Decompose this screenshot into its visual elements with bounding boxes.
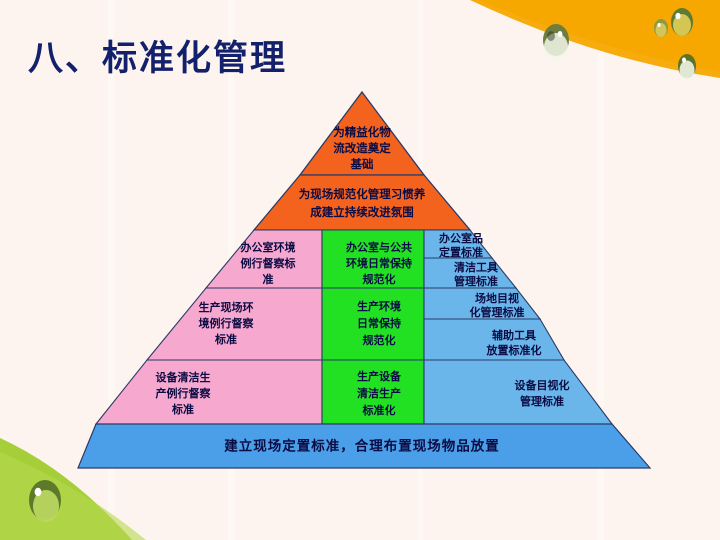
- row1-right1-line-1: 办公室品: [439, 231, 483, 245]
- row3-right-cell-1[interactable]: [424, 360, 612, 424]
- row2-center-line-1: 生产环境: [357, 299, 401, 313]
- apex-line-3: 基础: [350, 157, 374, 171]
- apex-line-1: 为精益化物: [333, 125, 391, 139]
- row1-left-line-3: 准: [263, 272, 274, 286]
- row2-center-line-3: 规范化: [363, 333, 396, 347]
- row3-right1-line-1: 设备目视化: [515, 378, 570, 392]
- row2-right1-line-2: 化管理标准: [470, 305, 525, 319]
- row2-left-line-2: 境例行督察: [199, 316, 255, 330]
- row2-right1-line-1: 场地目视: [475, 291, 519, 305]
- row1-right2-line-2: 管理标准: [454, 274, 498, 288]
- row1-left-line-2: 例行督察标: [241, 256, 296, 270]
- page-title: 八、标准化管理: [28, 30, 287, 81]
- row3-left-line-1: 设备清洁生: [156, 370, 211, 384]
- row3-left-line-2: 产例行督察: [156, 386, 212, 400]
- row1-center-line-2: 环境日常保持: [346, 256, 412, 270]
- row1-right2-line-1: 清洁工具: [454, 260, 498, 274]
- row2-right2-line-1: 辅助工具: [492, 328, 536, 342]
- row1-center-line-1: 办公室与公共: [346, 240, 412, 254]
- row3-center-line-2: 清洁生产: [357, 386, 401, 400]
- row2-left-line-3: 标准: [214, 332, 237, 346]
- row2-center-line-2: 日常保持: [357, 316, 401, 330]
- standardization-pyramid-diagram: 为精益化物 流改造奠定 基础 为现场规范化管理习惯养 成建立持续改进氛围 办公室…: [0, 0, 720, 540]
- row2-right2-line-2: 放置标准化: [486, 343, 542, 357]
- tier2-line-1: 为现场规范化管理习惯养: [299, 187, 426, 201]
- row1-center-line-3: 规范化: [363, 272, 396, 286]
- row2-left-line-1: 生产现场环: [199, 300, 254, 314]
- row3-center-line-3: 标准化: [362, 403, 396, 417]
- tier2-line-2: 成建立持续改进氛围: [310, 205, 414, 219]
- row3-center-line-1: 生产设备: [357, 369, 402, 383]
- base-line-1: 建立现场定置标准，合理布置现场物品放置: [223, 438, 500, 455]
- row3-left-line-3: 标准: [171, 402, 194, 416]
- row3-right1-line-2: 管理标准: [520, 394, 564, 408]
- row1-left-line-1: 办公室环境: [241, 240, 296, 254]
- row1-right1-line-2: 定置标准: [439, 245, 483, 259]
- pyramid-tier-2[interactable]: [254, 175, 470, 230]
- apex-line-2: 流改造奠定: [333, 141, 391, 155]
